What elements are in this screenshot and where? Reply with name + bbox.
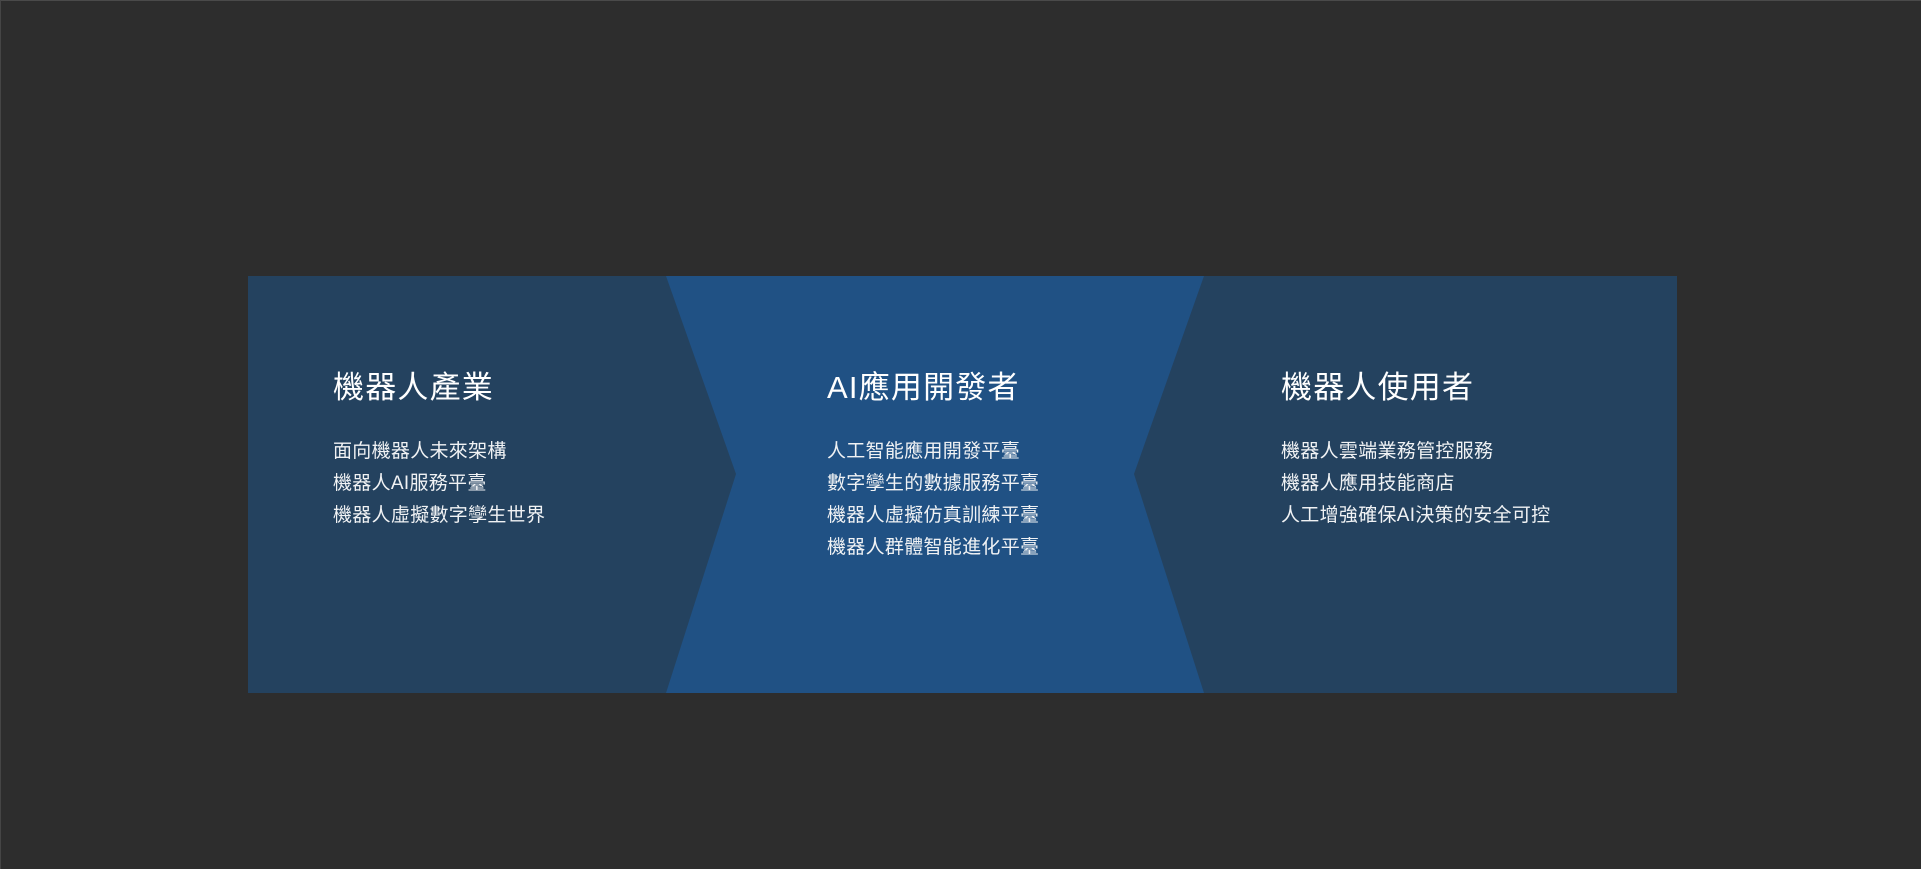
- stage-item-list-ai-app-developer: 人工智能應用開發平臺 數字孿生的數據服務平臺 機器人虛擬仿真訓練平臺 機器人群體…: [827, 442, 1039, 570]
- list-item: 人工增強確保AI決策的安全可控: [1281, 506, 1550, 538]
- three-stage-chevron-banner: 機器人產業 面向機器人未來架構 機器人AI服務平臺 機器人虛擬數字孿生世界 AI…: [248, 276, 1677, 693]
- stage-title-ai-app-developer: AI應用開發者: [827, 372, 1020, 403]
- list-item: 機器人AI服務平臺: [333, 474, 545, 506]
- list-item: 數字孿生的數據服務平臺: [827, 474, 1039, 506]
- stage-item-list-robot-user: 機器人雲端業務管控服務 機器人應用技能商店 人工增強確保AI決策的安全可控: [1281, 442, 1550, 538]
- stage-column-robot-user[interactable]: 機器人使用者 機器人雲端業務管控服務 機器人應用技能商店 人工增強確保AI決策的…: [1281, 276, 1661, 693]
- list-item: 機器人雲端業務管控服務: [1281, 442, 1550, 474]
- list-item: 機器人虛擬仿真訓練平臺: [827, 506, 1039, 538]
- list-item: 面向機器人未來架構: [333, 442, 545, 474]
- list-item: 機器人應用技能商店: [1281, 474, 1550, 506]
- stage-column-robot-industry[interactable]: 機器人產業 面向機器人未來架構 機器人AI服務平臺 機器人虛擬數字孿生世界: [333, 276, 703, 693]
- stage-title-robot-industry: 機器人產業: [333, 372, 494, 403]
- stage-title-robot-user: 機器人使用者: [1281, 372, 1474, 403]
- list-item: 人工智能應用開發平臺: [827, 442, 1039, 474]
- list-item: 機器人虛擬數字孿生世界: [333, 506, 545, 538]
- stage-item-list-robot-industry: 面向機器人未來架構 機器人AI服務平臺 機器人虛擬數字孿生世界: [333, 442, 545, 538]
- slide-canvas: 機器人產業 面向機器人未來架構 機器人AI服務平臺 機器人虛擬數字孿生世界 AI…: [0, 0, 1921, 869]
- stage-column-ai-app-developer[interactable]: AI應用開發者 人工智能應用開發平臺 數字孿生的數據服務平臺 機器人虛擬仿真訓練…: [827, 276, 1197, 693]
- list-item: 機器人群體智能進化平臺: [827, 538, 1039, 570]
